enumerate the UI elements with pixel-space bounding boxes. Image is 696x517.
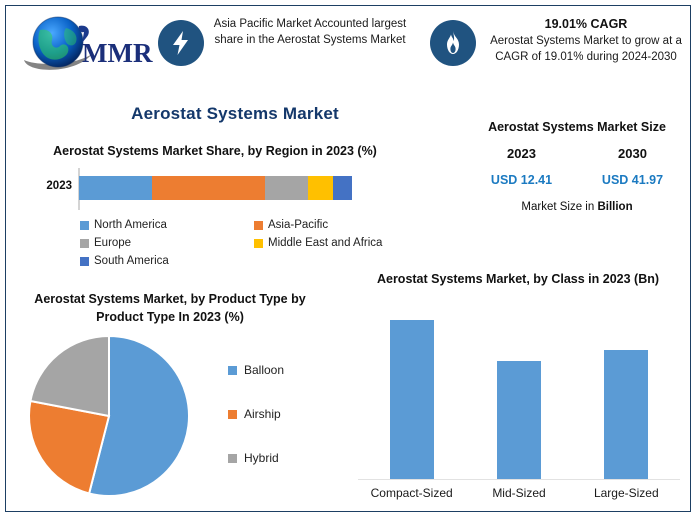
class-bar-column [573,305,680,479]
pie-chart-title: Aerostat Systems Market, by Product Type… [12,290,328,326]
class-axis-label: Mid-Sized [465,486,572,500]
kpi-cagr-text: 19.01% CAGR Aerostat Systems Market to g… [476,12,688,65]
region-legend-label: Europe [94,237,131,249]
class-chart-title: Aerostat Systems Market, by Class in 202… [353,270,683,288]
pie-legend-item: Airship [228,392,333,436]
region-segment-4 [333,176,352,200]
pie-graphic [26,334,196,499]
region-plot-area: 2023 [14,168,434,210]
region-legend-item: South America [80,252,254,270]
flame-icon [430,20,476,66]
class-axis-label: Compact-Sized [358,486,465,500]
legend-swatch-icon [228,454,237,463]
region-legend-label: South America [94,255,169,267]
class-bar-0 [390,320,434,478]
pie-legend-label: Hybrid [244,451,279,465]
region-stacked-bar [79,176,352,200]
region-segment-3 [308,176,333,200]
region-legend-item: Middle East and Africa [254,234,428,252]
kpi-asia-pacific-text: Asia Pacific Market Accounted largest sh… [204,12,408,48]
pie-slice-2 [30,336,109,416]
market-size-year-2030: 2030 [577,146,688,161]
infographic-canvas: MMR Asia Pacific Market Accounted larges… [0,0,696,517]
kpi-cagr-headline: 19.01% CAGR [484,16,688,32]
region-segment-2 [265,176,308,200]
lightning-bolt-icon [158,20,204,66]
region-share-chart: Aerostat Systems Market Share, by Region… [14,142,434,270]
class-bar-column [358,305,465,479]
region-category-label: 2023 [24,180,72,192]
region-legend-item: North America [80,216,254,234]
market-size-col-2023: 2023 USD 12.41 [466,146,577,187]
class-bar-column [465,305,572,479]
kpi-asia-pacific: Asia Pacific Market Accounted largest sh… [158,12,408,66]
page-title: Aerostat Systems Market [0,104,470,124]
product-type-chart: Aerostat Systems Market, by Product Type… [6,290,336,499]
legend-swatch-icon [228,366,237,375]
class-bar-group [358,305,680,479]
region-legend-item: Asia-Pacific [254,216,428,234]
region-legend-label: Middle East and Africa [268,237,382,249]
pie-legend-item: Balloon [228,348,333,392]
region-segment-1 [152,176,265,200]
kpi-line-1: Aerostat Systems Market to [490,35,631,47]
legend-swatch-icon [80,257,89,266]
region-legend: North AmericaAsia-PacificEuropeMiddle Ea… [80,216,428,270]
class-chart: Aerostat Systems Market, by Class in 202… [348,270,688,512]
pie-legend-label: Airship [244,407,281,421]
mmr-wordmark: MMR [82,38,153,68]
pie-legend: BalloonAirshipHybrid [228,348,333,480]
region-legend-label: North America [94,219,167,231]
class-plot-area [358,304,680,480]
class-bar-1 [497,361,541,478]
region-chart-title: Aerostat Systems Market Share, by Region… [20,142,410,160]
pie-plot-area: BalloonAirshipHybrid [6,334,336,499]
pie-legend-item: Hybrid [228,436,333,480]
flame-glyph [441,30,465,56]
market-size-panel: Aerostat Systems Market Size 2023 USD 12… [466,118,688,213]
mmr-logo: MMR [18,14,153,76]
pie-legend-label: Balloon [244,363,284,377]
market-size-title: Aerostat Systems Market Size [466,118,688,136]
legend-swatch-icon [80,221,89,230]
class-bar-2 [604,350,648,478]
kpi-cagr: 19.01% CAGR Aerostat Systems Market to g… [430,12,688,66]
legend-swatch-icon [254,221,263,230]
market-size-footnote-prefix: Market Size in [521,201,597,213]
market-size-col-2030: 2030 USD 41.97 [577,146,688,187]
market-size-footnote: Market Size in Billion [466,201,688,213]
class-axis-baseline [358,479,680,481]
mmr-logo-graphic: MMR [18,14,153,76]
lightning-bolt-glyph [169,30,193,56]
market-size-footnote-unit: Billion [597,201,632,213]
kpi-line-3: during 2024-2030 [587,51,677,63]
region-segment-0 [79,176,152,200]
market-size-value-2030: USD 41.97 [577,173,688,187]
legend-swatch-icon [228,410,237,419]
kpi-line-3: Systems Market [323,34,405,46]
kpi-line-1: Asia Pacific Market Accounted [214,18,369,30]
class-axis-label: Large-Sized [573,486,680,500]
header-bar: MMR Asia Pacific Market Accounted larges… [10,8,686,88]
class-axis-labels: Compact-SizedMid-SizedLarge-Sized [358,486,680,500]
region-legend-item: Europe [80,234,254,252]
legend-swatch-icon [254,239,263,248]
region-legend-label: Asia-Pacific [268,219,328,231]
market-size-year-2023: 2023 [466,146,577,161]
legend-swatch-icon [80,239,89,248]
market-size-years: 2023 USD 12.41 2030 USD 41.97 [466,146,688,187]
market-size-value-2023: USD 12.41 [466,173,577,187]
